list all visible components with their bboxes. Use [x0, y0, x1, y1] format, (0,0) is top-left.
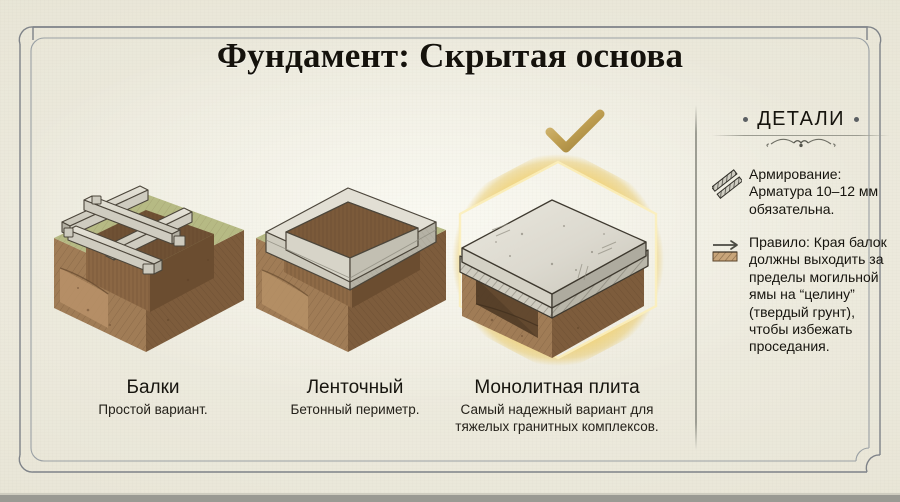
rule-arrow-beam-icon — [712, 234, 742, 356]
details-heading-row: ДЕТАЛИ — [712, 108, 890, 131]
check-icon — [550, 114, 600, 148]
rebar-icon — [712, 166, 742, 218]
bullet-dot-left-icon — [743, 117, 748, 122]
infographic-page: Фундамент: Скрытая основа — [0, 0, 900, 502]
option-label-slab: Монолитная плита Самый надежный вариант … — [442, 378, 672, 436]
bullet-dot-right-icon — [854, 117, 859, 122]
detail-item-rule: Правило: Края балок должны выходить за п… — [712, 234, 890, 356]
recommended-check-badge — [540, 108, 610, 156]
ornament-flourish-icon — [712, 137, 890, 150]
bottom-bar — [0, 495, 900, 502]
option-caption: Самый надежный вариант для тяжелых грани… — [442, 402, 672, 436]
sidebar-divider — [695, 105, 697, 450]
detail-text: Армирование: Арматура 10–12 мм обязатель… — [749, 166, 890, 218]
option-name: Балки — [48, 378, 258, 399]
details-heading: ДЕТАЛИ — [757, 108, 845, 131]
detail-item-reinforcement: Армирование: Арматура 10–12 мм обязатель… — [712, 166, 890, 218]
option-illustration-beams — [48, 160, 258, 360]
option-name: Ленточный — [250, 378, 460, 399]
option-illustration-strip — [250, 160, 460, 360]
option-label-beams: Балки Простой вариант. — [48, 378, 258, 418]
details-panel: ДЕТАЛИ — [712, 108, 890, 356]
detail-text: Правило: Края балок должны выходить за п… — [749, 234, 890, 356]
option-illustration-slab — [452, 160, 662, 360]
option-label-strip: Ленточный Бетонный периметр. — [250, 378, 460, 418]
option-caption: Простой вариант. — [48, 402, 258, 418]
page-title: Фундамент: Скрытая основа — [0, 36, 900, 76]
option-name: Монолитная плита — [442, 378, 672, 399]
option-caption: Бетонный периметр. — [250, 402, 460, 418]
details-rule — [712, 135, 890, 136]
